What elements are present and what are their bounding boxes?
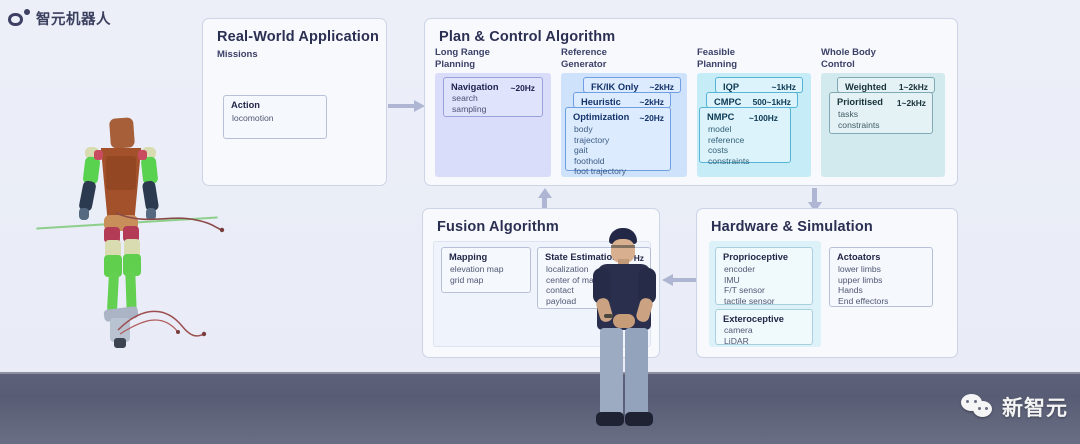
list-item: constraints [838, 120, 880, 131]
presenter-person [578, 228, 674, 444]
list-item: foothold [574, 156, 626, 167]
sublabel-missions: Missions [217, 49, 258, 61]
card-name: CMPC [714, 97, 741, 107]
list-item: F/T sensor [724, 285, 775, 296]
card-items: search sampling [452, 93, 486, 114]
card-name: Optimization [573, 112, 629, 122]
list-item: trajectory [574, 135, 626, 146]
card-items: model reference costs constraints [708, 124, 750, 166]
card-name: IQP [723, 82, 739, 92]
card-navigation[interactable]: Navigation ~20Hz search sampling [443, 77, 543, 117]
list-item: sampling [452, 104, 486, 115]
panel-title-fusion-algorithm: Fusion Algorithm [437, 219, 559, 235]
robot-visualization [34, 100, 224, 350]
panel-title-hardware-simulation: Hardware & Simulation [711, 219, 873, 235]
card-name: Heuristic [581, 97, 621, 107]
presenter-watch [604, 314, 613, 318]
card-header: Exteroceptive [723, 314, 784, 324]
list-item: upper limbs [838, 275, 888, 286]
list-item: Hands [838, 285, 888, 296]
list-item: tactile sensor [724, 296, 775, 307]
panel-real-world-application: Real-World Application Missions Action l… [202, 18, 387, 186]
card-frequency: ~2kHz [640, 97, 664, 107]
list-item: tasks [838, 109, 880, 120]
card-proprioceptive[interactable]: Proprioceptive encoder IMU F/T sensor ta… [715, 247, 813, 305]
brand-name: 智元机器人 [36, 8, 111, 29]
card-prioritised[interactable]: Prioritised 1~2kHz tasks constraints [829, 92, 933, 134]
card-header: Heuristic [581, 97, 621, 107]
card-header: FK/IK Only [591, 82, 639, 92]
list-item: End effectors [838, 296, 888, 307]
card-name: FK/IK Only [591, 82, 639, 92]
list-item: encoder [724, 264, 775, 275]
card-header: Actoators [837, 252, 880, 262]
card-header: Proprioceptive [723, 252, 788, 262]
list-item: body [574, 124, 626, 135]
presenter-right-leg [625, 328, 648, 416]
card-header: Navigation [451, 82, 499, 92]
card-header: CMPC [714, 97, 741, 107]
list-item: costs [708, 145, 750, 156]
presenter-left-shoe [596, 412, 624, 426]
card-heuristic[interactable]: Heuristic ~2kHz [573, 92, 671, 108]
card-header: NMPC [707, 112, 734, 122]
card-items: tasks constraints [838, 109, 880, 130]
channel-watermark: 新智元 [961, 392, 1068, 422]
robot-trajectory-curves [112, 208, 224, 343]
panel-title-real-world-application: Real-World Application [217, 29, 379, 45]
robot-right-shoulder-joint [138, 150, 147, 160]
robot-chest-plate [106, 156, 136, 190]
column-label-long-range-planning: Long Range Planning [435, 47, 490, 70]
watermark-text: 新智元 [1002, 392, 1068, 422]
stage-floor [0, 372, 1080, 444]
presenter-right-shoe [625, 412, 653, 426]
card-frequency: ~1kHz [772, 82, 796, 92]
card-items: elevation map grid map [450, 264, 504, 285]
arrow-application-to-plan [388, 100, 426, 112]
list-item: elevation map [450, 264, 504, 275]
card-items: body trajectory gait foothold foot traje… [574, 124, 626, 177]
panel-hardware-simulation: Hardware & Simulation Proprioceptive enc… [696, 208, 958, 358]
card-frequency: ~20Hz [640, 113, 664, 123]
card-name: NMPC [707, 112, 734, 122]
list-item: search [452, 93, 486, 104]
card-header: Weighted [845, 82, 887, 92]
robot-eye-logo-icon [8, 9, 30, 29]
card-weighted[interactable]: Weighted 1~2kHz [837, 77, 935, 93]
card-items: lower limbs upper limbs Hands End effect… [838, 264, 888, 306]
brand-logo: 智元机器人 [8, 8, 111, 29]
card-name: Actoators [837, 252, 880, 262]
panel-plan-control-algorithm: Plan & Control Algorithm Long Range Plan… [424, 18, 958, 186]
card-name: Prioritised [837, 97, 883, 107]
card-nmpc[interactable]: NMPC ~100Hz model reference costs constr… [699, 107, 791, 163]
list-item: lower limbs [838, 264, 888, 275]
card-fk-ik-only[interactable]: FK/IK Only ~2kHz [583, 77, 681, 93]
card-name: Proprioceptive [723, 252, 788, 262]
list-item: IMU [724, 275, 775, 286]
card-name: Action [231, 100, 260, 110]
card-header: IQP [723, 82, 739, 92]
list-item: locomotion [232, 113, 274, 124]
card-items: camera LiDAR [724, 325, 753, 346]
card-mapping[interactable]: Mapping elevation map grid map [441, 247, 531, 293]
card-frequency: 1~2kHz [897, 98, 926, 108]
list-item: model [708, 124, 750, 135]
card-header: Mapping [449, 252, 487, 262]
card-frequency: 500~1kHz [753, 97, 791, 107]
presenter-left-leg [600, 328, 623, 416]
card-items: encoder IMU F/T sensor tactile sensor [724, 264, 775, 306]
panel-title-plan-control-algorithm: Plan & Control Algorithm [439, 29, 615, 45]
list-item: reference [708, 135, 750, 146]
column-label-whole-body-control: Whole Body Control [821, 47, 876, 70]
card-frequency: 1~2kHz [899, 82, 928, 92]
presenter-glasses [611, 245, 635, 248]
list-item: LiDAR [724, 336, 753, 347]
card-exteroceptive[interactable]: Exteroceptive camera LiDAR [715, 309, 813, 345]
card-action[interactable]: Action locomotion [223, 95, 327, 139]
list-item: camera [724, 325, 753, 336]
card-items: locomotion [232, 113, 274, 124]
card-frequency: ~2kHz [650, 82, 674, 92]
card-header: Action [231, 100, 260, 110]
card-frequency: ~20Hz [511, 83, 535, 93]
list-item: constraints [708, 156, 750, 167]
list-item: grid map [450, 275, 504, 286]
card-frequency: ~100Hz [749, 113, 778, 123]
card-name: Exteroceptive [723, 314, 784, 324]
presenter-hands [613, 314, 635, 328]
card-name: Mapping [449, 252, 487, 262]
robot-head [109, 117, 135, 149]
robot-left-hand [79, 208, 89, 220]
list-item: foot trajectory [574, 166, 626, 177]
card-iqp[interactable]: IQP ~1kHz [715, 77, 803, 93]
card-actoators[interactable]: Actoators lower limbs upper limbs Hands … [829, 247, 933, 307]
card-optimization[interactable]: Optimization ~20Hz body trajectory gait … [565, 107, 671, 171]
column-label-feasible-planning: Feasible Planning [697, 47, 737, 70]
wechat-icon [961, 394, 995, 420]
card-name: Weighted [845, 82, 887, 92]
card-header: Prioritised [837, 97, 883, 107]
card-name: Navigation [451, 82, 499, 92]
list-item: gait [574, 145, 626, 156]
column-label-reference-generator: Reference Generator [561, 47, 607, 70]
card-header: Optimization [573, 112, 629, 122]
robot-left-shoulder-joint [94, 150, 103, 160]
card-cmpc[interactable]: CMPC 500~1kHz [706, 92, 798, 108]
